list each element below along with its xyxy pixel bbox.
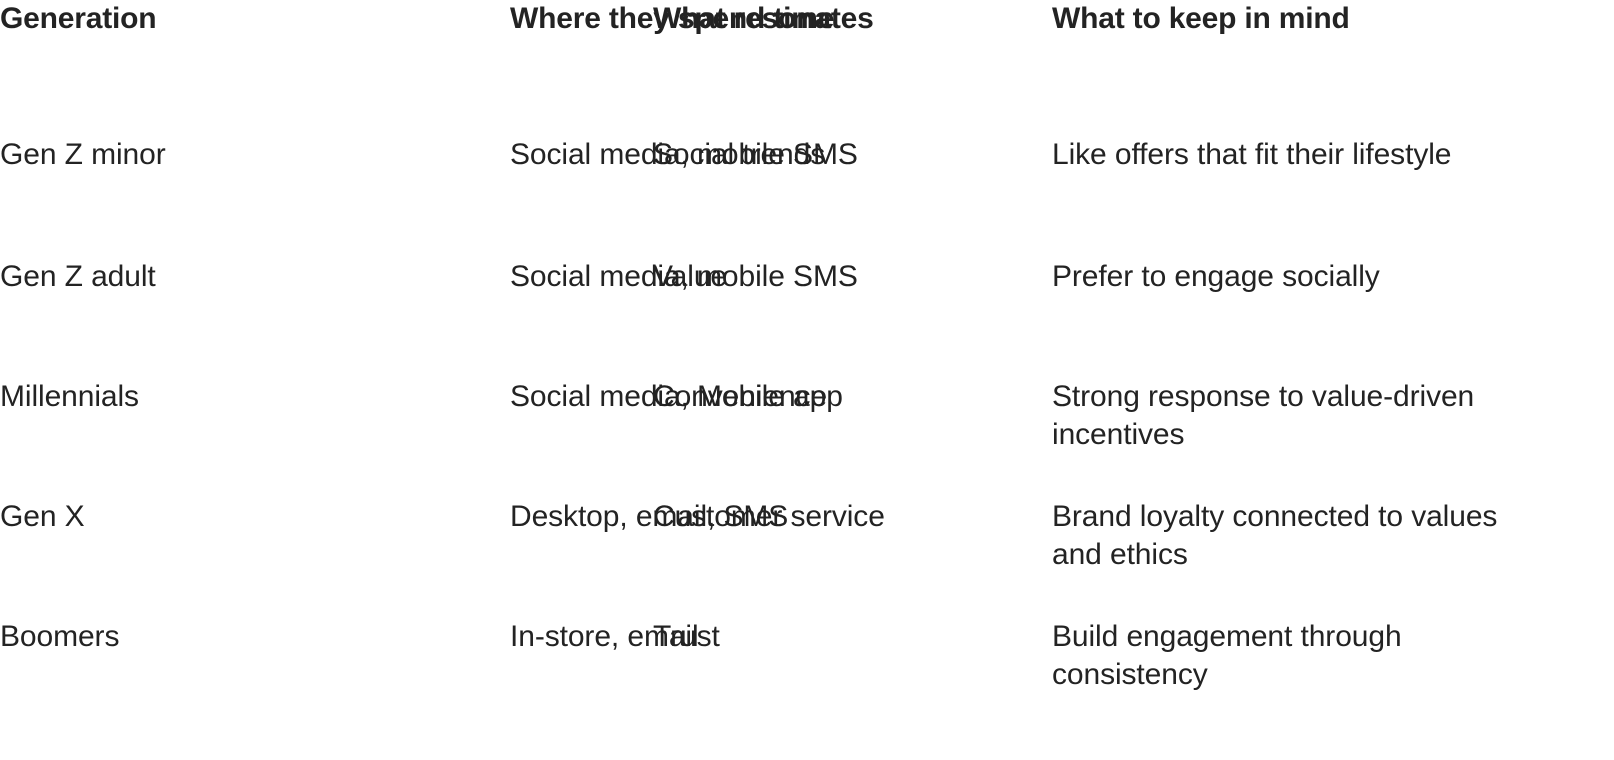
table-header-row: Generation Where they spend time What re… [0,0,1614,58]
cell-keep-in-mind: Brand loyalty connected to values and et… [1052,498,1614,618]
cell-where: Social media, mobile SMS [268,258,653,378]
cell-keep-in-mind: Strong response to value-driven incentiv… [1052,378,1614,498]
cell-generation-text: Gen X [0,498,268,536]
table-row: Gen X Desktop, email, SMS Customer servi… [0,498,1614,618]
cell-keep-in-mind-text: Build engagement through consistency [1052,618,1522,694]
cell-keep-in-mind-text: Strong response to value-driven incentiv… [1052,378,1522,454]
cell-generation-text: Boomers [0,618,268,656]
cell-generation: Gen Z adult [0,258,268,378]
cell-resonates-text: Convenience [653,378,1052,416]
cell-where-text: In-store, email [510,618,653,656]
cell-generation-text: Gen Z minor [0,136,268,174]
cell-keep-in-mind: Like offers that fit their lifestyle [1052,58,1614,258]
cell-resonates-text: Trust [653,618,1052,656]
cell-where-text: Social media, mobile SMS [510,258,653,296]
table-row: Gen Z adult Social media, mobile SMS Val… [0,258,1614,378]
table-body: Gen Z minor Social media, mobile SMS Soc… [0,58,1614,738]
column-header-what-resonates-label: What resonates [653,0,1052,38]
table-header: Generation Where they spend time What re… [0,0,1614,58]
cell-where-text: Social media, Mobile app [510,378,653,416]
cell-generation: Boomers [0,618,268,738]
generation-comparison-table: Generation Where they spend time What re… [0,0,1614,738]
table-row: Gen Z minor Social media, mobile SMS Soc… [0,58,1614,258]
cell-where: Desktop, email, SMS [268,498,653,618]
column-header-where-they-spend-time-label: Where they spend time [510,0,653,38]
column-header-where-they-spend-time: Where they spend time [268,0,653,58]
cell-keep-in-mind-text: Like offers that fit their lifestyle [1052,136,1522,174]
column-header-what-resonates: What resonates [653,0,1052,58]
cell-resonates: Convenience [653,378,1052,498]
cell-where-text: Desktop, email, SMS [510,498,653,536]
cell-keep-in-mind: Build engagement through consistency [1052,618,1614,738]
cell-generation: Gen X [0,498,268,618]
cell-where: Social media, mobile SMS [268,58,653,258]
cell-where-text: Social media, mobile SMS [510,136,653,174]
cell-keep-in-mind-text: Prefer to engage socially [1052,258,1522,296]
cell-generation: Gen Z minor [0,58,268,258]
cell-generation-text: Millennials [0,378,268,416]
column-header-generation: Generation [0,0,268,58]
cell-where: In-store, email [268,618,653,738]
cell-keep-in-mind-text: Brand loyalty connected to values and et… [1052,498,1522,574]
column-header-what-to-keep-in-mind: What to keep in mind [1052,0,1614,58]
cell-keep-in-mind: Prefer to engage socially [1052,258,1614,378]
generation-table-container: Generation Where they spend time What re… [0,0,1614,760]
column-header-what-to-keep-in-mind-label: What to keep in mind [1052,0,1614,38]
cell-where: Social media, Mobile app [268,378,653,498]
table-row: Millennials Social media, Mobile app Con… [0,378,1614,498]
cell-resonates-text: Customer service [653,498,1052,536]
cell-resonates: Customer service [653,498,1052,618]
column-header-generation-label: Generation [0,0,268,38]
cell-generation-text: Gen Z adult [0,258,268,296]
cell-generation: Millennials [0,378,268,498]
cell-resonates: Trust [653,618,1052,738]
table-row: Boomers In-store, email Trust Build enga… [0,618,1614,738]
